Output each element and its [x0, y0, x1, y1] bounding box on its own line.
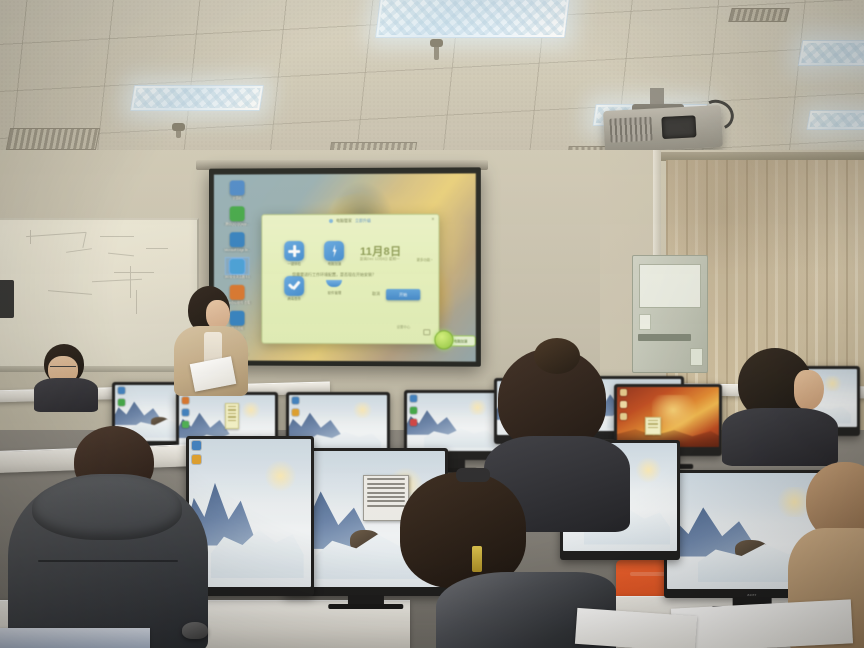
sun-glow: [634, 456, 664, 484]
desktop-icon-label: 360安全浏览器 9.1: [221, 275, 254, 279]
instructor: [166, 286, 262, 394]
wall-cabinet: [632, 255, 708, 373]
close-icon[interactable]: ×: [431, 217, 434, 223]
start-button[interactable]: 开始: [386, 289, 420, 300]
student-front-left-man: [34, 344, 104, 406]
sun-glow: [239, 402, 264, 418]
ceiling-light-1: [375, 0, 571, 38]
icon-c: [410, 419, 417, 426]
sun-glow: [265, 457, 297, 495]
keyboard-tray: [0, 628, 150, 648]
wall-pipe: [653, 150, 661, 262]
cancel-button[interactable]: 取消: [372, 291, 380, 297]
jacket-hood: [32, 476, 182, 540]
jacket-seam: [38, 560, 178, 562]
projector-vent: [609, 117, 652, 143]
desktop-icon[interactable]: 计算机: [221, 180, 254, 200]
tile-label: 软件管理: [318, 291, 352, 295]
monitor-desktop-icons: [181, 397, 197, 433]
cabinet-handle: [638, 334, 691, 341]
sun-glow: [350, 402, 375, 418]
dialog-date-sub: 距离Dec 12月8日 星期一: [360, 257, 400, 262]
plus-icon: [284, 241, 304, 261]
check-icon: [284, 276, 304, 296]
edge-icon: [230, 233, 245, 248]
ceiling-light-2: [130, 85, 264, 111]
ceiling-projector: [603, 105, 723, 153]
monitor-desktop-icons: [291, 397, 307, 421]
student-head: [400, 472, 526, 588]
student-body: [722, 408, 838, 466]
computer-icon: [230, 180, 245, 195]
app-logo-icon: [329, 219, 333, 223]
hair-bun: [534, 338, 580, 374]
tile-scan[interactable]: 一键体检: [277, 241, 311, 266]
student-right-glasses: [720, 348, 840, 458]
ceiling-light-4: [798, 40, 864, 66]
shield-icon: [324, 276, 344, 290]
classroom-photo-scene: 计算机 腾讯QQ QQapp... Microsoft Edge Br... 3…: [0, 0, 864, 648]
sticky-note: [645, 417, 661, 435]
icon-c: [182, 421, 189, 428]
settings-link[interactable]: 设置中心: [397, 324, 411, 329]
cabinet-label: [639, 314, 651, 330]
ceiling-vent-1: [6, 128, 100, 150]
cabinet-sticker: [690, 348, 703, 366]
desktop-icon[interactable]: 腾讯QQ QQapp...: [221, 206, 254, 226]
icon-a: [292, 397, 299, 404]
sticky-note: [225, 403, 239, 429]
tile-virus-scan[interactable]: 病毒查杀: [277, 276, 311, 301]
student-grey-puffer: [8, 432, 218, 648]
pc-manager-dialog[interactable]: 电脑管家 立即升级 × 一键体检 电脑加速 病毒查杀: [261, 214, 439, 345]
sprinkler-1: [434, 44, 439, 60]
rock-shape: [350, 530, 382, 554]
dialog-message: 您需要进行工作环境配置，是否现在开始安装？: [292, 272, 428, 278]
monitor-desktop-icons: [409, 395, 425, 431]
hair-tie-icon: [456, 468, 490, 482]
projector-lens: [661, 115, 696, 139]
computer-mouse[interactable]: [182, 622, 208, 639]
tile-software[interactable]: 软件管理: [318, 276, 352, 295]
rock-shape: [735, 540, 769, 561]
cabinet-window: [639, 264, 701, 308]
lightning-icon: [324, 241, 344, 261]
icon-a: [182, 397, 189, 404]
monitor-desktop-icons: [117, 387, 133, 411]
wall-speaker: [0, 280, 14, 318]
resize-handle[interactable]: [423, 329, 430, 335]
icon-a: [118, 387, 125, 394]
icon-b: [292, 409, 299, 416]
hair-clip-icon: [472, 546, 482, 572]
tile-label: 病毒查杀: [277, 297, 311, 301]
icon-a: [410, 395, 417, 402]
tile-label: 电脑加速: [318, 262, 352, 266]
icon-b: [182, 409, 189, 416]
tile-accelerate[interactable]: 电脑加速: [318, 241, 352, 266]
student-face: [794, 370, 824, 410]
icon-b: [118, 399, 125, 406]
desktop-icon[interactable]: Microsoft Edge Br...: [221, 233, 254, 253]
monitor-brand-label: acer: [747, 592, 756, 597]
student-body: [34, 378, 98, 412]
dialog-titlebar: 电脑管家 立即升级: [262, 215, 438, 226]
qq-icon: [230, 207, 245, 222]
tile-label: 一键体检: [277, 262, 311, 266]
dialog-more-link[interactable]: 更多功能 ›: [417, 257, 433, 262]
rock-shape: [151, 417, 169, 427]
icon-b: [410, 407, 417, 414]
ceiling-light-5: [806, 110, 864, 130]
dialog-title-text: 电脑管家: [336, 217, 352, 223]
green-assistant-ball[interactable]: [434, 330, 453, 349]
browser-icon: [230, 259, 245, 274]
ceiling-vent-4: [728, 8, 789, 22]
desktop-icon-label: Microsoft Edge Br...: [221, 248, 254, 252]
desk-papers: [671, 599, 853, 648]
upgrade-link[interactable]: 立即升级: [355, 217, 371, 223]
desktop-icon-label: 计算机: [221, 196, 254, 200]
sprinkler-2: [176, 128, 181, 138]
desktop-icon-label: 腾讯QQ QQapp...: [221, 222, 254, 226]
desktop-icon-selected[interactable]: 360安全浏览器 9.1: [221, 259, 254, 279]
glasses-icon: [50, 366, 76, 371]
